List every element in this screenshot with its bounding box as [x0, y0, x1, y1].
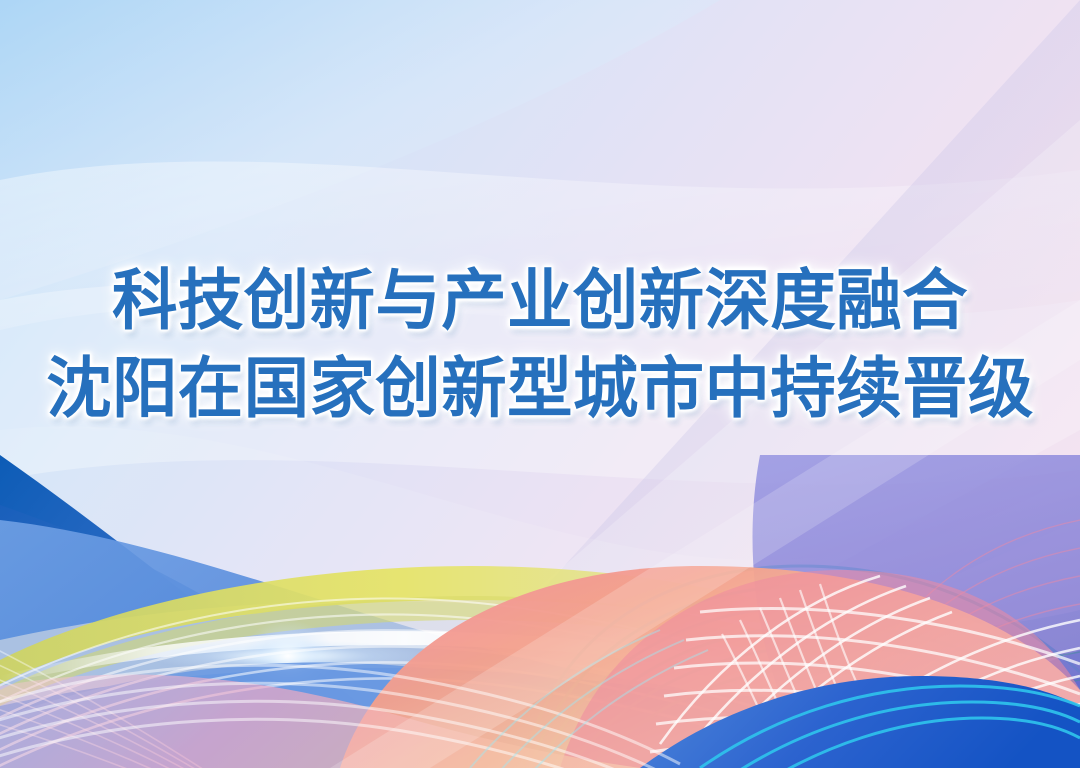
poster-canvas: 科技创新与产业创新深度融合 沈阳在国家创新型城市中持续晋级 — [0, 0, 1080, 768]
background-svg — [0, 0, 1080, 768]
background-artwork — [0, 0, 1080, 768]
